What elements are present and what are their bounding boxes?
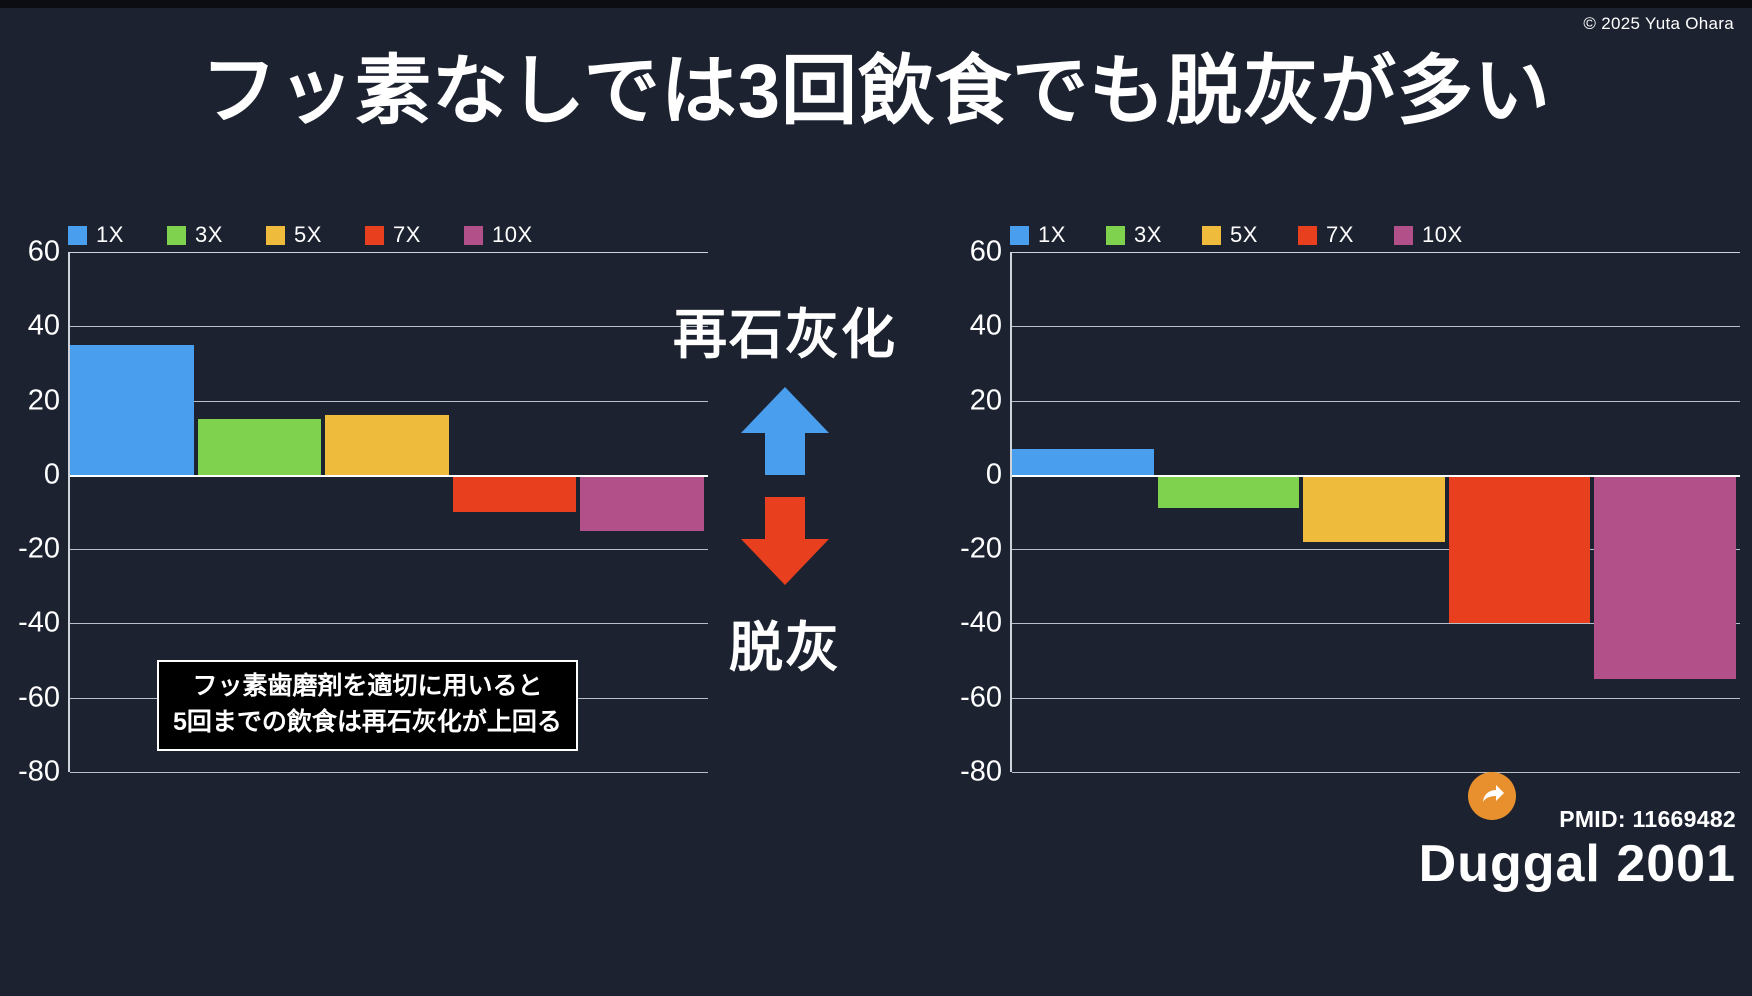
- legend-label: 5X: [294, 222, 322, 248]
- legend-item-1x[interactable]: 1X: [1010, 222, 1106, 248]
- legend-label: 5X: [1230, 222, 1258, 248]
- copyright-text: © 2025 Yuta Ohara: [1583, 14, 1734, 34]
- zero-line: [1012, 475, 1740, 477]
- bar-3x: [198, 419, 322, 475]
- bar-7x: [453, 475, 577, 512]
- bar-10x: [1594, 475, 1736, 679]
- callout-line-1: フッ素歯磨剤を適切に用いると: [173, 668, 562, 704]
- legend-label: 1X: [96, 222, 124, 248]
- zero-line: [70, 475, 708, 477]
- y-axis-tick-label: -80: [18, 756, 60, 789]
- legend-swatch-icon: [266, 226, 285, 245]
- legend-swatch-icon: [1010, 226, 1029, 245]
- legend-swatch-icon: [464, 226, 483, 245]
- y-axis-tick-label: -80: [960, 756, 1002, 789]
- bar-10x: [580, 475, 704, 531]
- gridline: [70, 772, 708, 773]
- legend-item-7x[interactable]: 7X: [1298, 222, 1394, 248]
- bar-1x: [1012, 449, 1154, 475]
- chart-panel-non-fluoride: 1X3X5X7X10X 6040200-20-40-60-80 フッ素なし歯磨剤: [940, 218, 1740, 772]
- legend-item-3x[interactable]: 3X: [1106, 222, 1202, 248]
- pmid-text: PMID: 11669482: [1559, 806, 1736, 833]
- bar-5x: [1303, 475, 1445, 542]
- legend-label: 3X: [195, 222, 223, 248]
- legend-item-3x[interactable]: 3X: [167, 222, 266, 248]
- y-axis-left: 6040200-20-40-60-80: [8, 252, 68, 772]
- share-arrow-icon[interactable]: [1468, 772, 1516, 820]
- legend-label: 10X: [1422, 222, 1463, 248]
- y-axis-tick-label: -40: [960, 607, 1002, 640]
- legend-label: 1X: [1038, 222, 1066, 248]
- y-axis-tick-label: 40: [970, 310, 1002, 343]
- legend-item-1x[interactable]: 1X: [68, 222, 167, 248]
- citation-text: Duggal 2001: [1419, 834, 1736, 894]
- plot-canvas-right: [1010, 252, 1740, 772]
- callout-box: フッ素歯磨剤を適切に用いると 5回までの飲食は再石灰化が上回る: [157, 660, 578, 751]
- chart-legend-right: 1X3X5X7X10X: [940, 218, 1740, 252]
- legend-item-7x[interactable]: 7X: [365, 222, 464, 248]
- legend-label: 7X: [393, 222, 421, 248]
- legend-label: 10X: [492, 222, 533, 248]
- legend-item-10x[interactable]: 10X: [464, 222, 563, 248]
- legend-swatch-icon: [1202, 226, 1221, 245]
- slide-canvas: © 2025 Yuta Ohara フッ素なしでは3回飲食でも脱灰が多い 1X3…: [0, 0, 1752, 996]
- bar-series-right: [1012, 252, 1740, 772]
- chart-legend-left: 1X3X5X7X10X: [8, 218, 708, 252]
- y-axis-tick-label: 60: [970, 236, 1002, 269]
- bar-3x: [1158, 475, 1300, 508]
- y-axis-tick-label: 60: [28, 236, 60, 269]
- legend-swatch-icon: [1106, 226, 1125, 245]
- y-axis-tick-label: -40: [18, 607, 60, 640]
- callout-line-2: 5回までの飲食は再石灰化が上回る: [173, 704, 562, 740]
- legend-item-5x[interactable]: 5X: [266, 222, 365, 248]
- legend-swatch-icon: [167, 226, 186, 245]
- legend-label: 7X: [1326, 222, 1354, 248]
- legend-swatch-icon: [1298, 226, 1317, 245]
- page-title: フッ素なしでは3回飲食でも脱灰が多い: [0, 52, 1752, 132]
- bar-7x: [1449, 475, 1591, 624]
- y-axis-right: 6040200-20-40-60-80: [940, 252, 1010, 772]
- y-axis-tick-label: -60: [18, 681, 60, 714]
- y-axis-tick-label: 20: [970, 384, 1002, 417]
- plot-area-right: 6040200-20-40-60-80: [940, 252, 1740, 772]
- y-axis-tick-label: -20: [18, 533, 60, 566]
- legend-swatch-icon: [365, 226, 384, 245]
- y-axis-tick-label: -60: [960, 681, 1002, 714]
- y-axis-tick-label: 20: [28, 384, 60, 417]
- y-axis-tick-label: 40: [28, 310, 60, 343]
- up-arrow-icon: [737, 383, 833, 479]
- bar-1x: [70, 345, 194, 475]
- y-axis-tick-label: 0: [44, 458, 60, 491]
- share-glyph: [1477, 781, 1507, 811]
- bar-5x: [325, 415, 449, 474]
- legend-swatch-icon: [1394, 226, 1413, 245]
- legend-item-10x[interactable]: 10X: [1394, 222, 1490, 248]
- legend-swatch-icon: [68, 226, 87, 245]
- y-axis-tick-label: 0: [986, 458, 1002, 491]
- legend-item-5x[interactable]: 5X: [1202, 222, 1298, 248]
- y-axis-tick-label: -20: [960, 533, 1002, 566]
- top-edge-bar: [0, 0, 1752, 8]
- down-arrow-icon: [737, 493, 833, 589]
- gridline: [1012, 772, 1740, 773]
- legend-label: 3X: [1134, 222, 1162, 248]
